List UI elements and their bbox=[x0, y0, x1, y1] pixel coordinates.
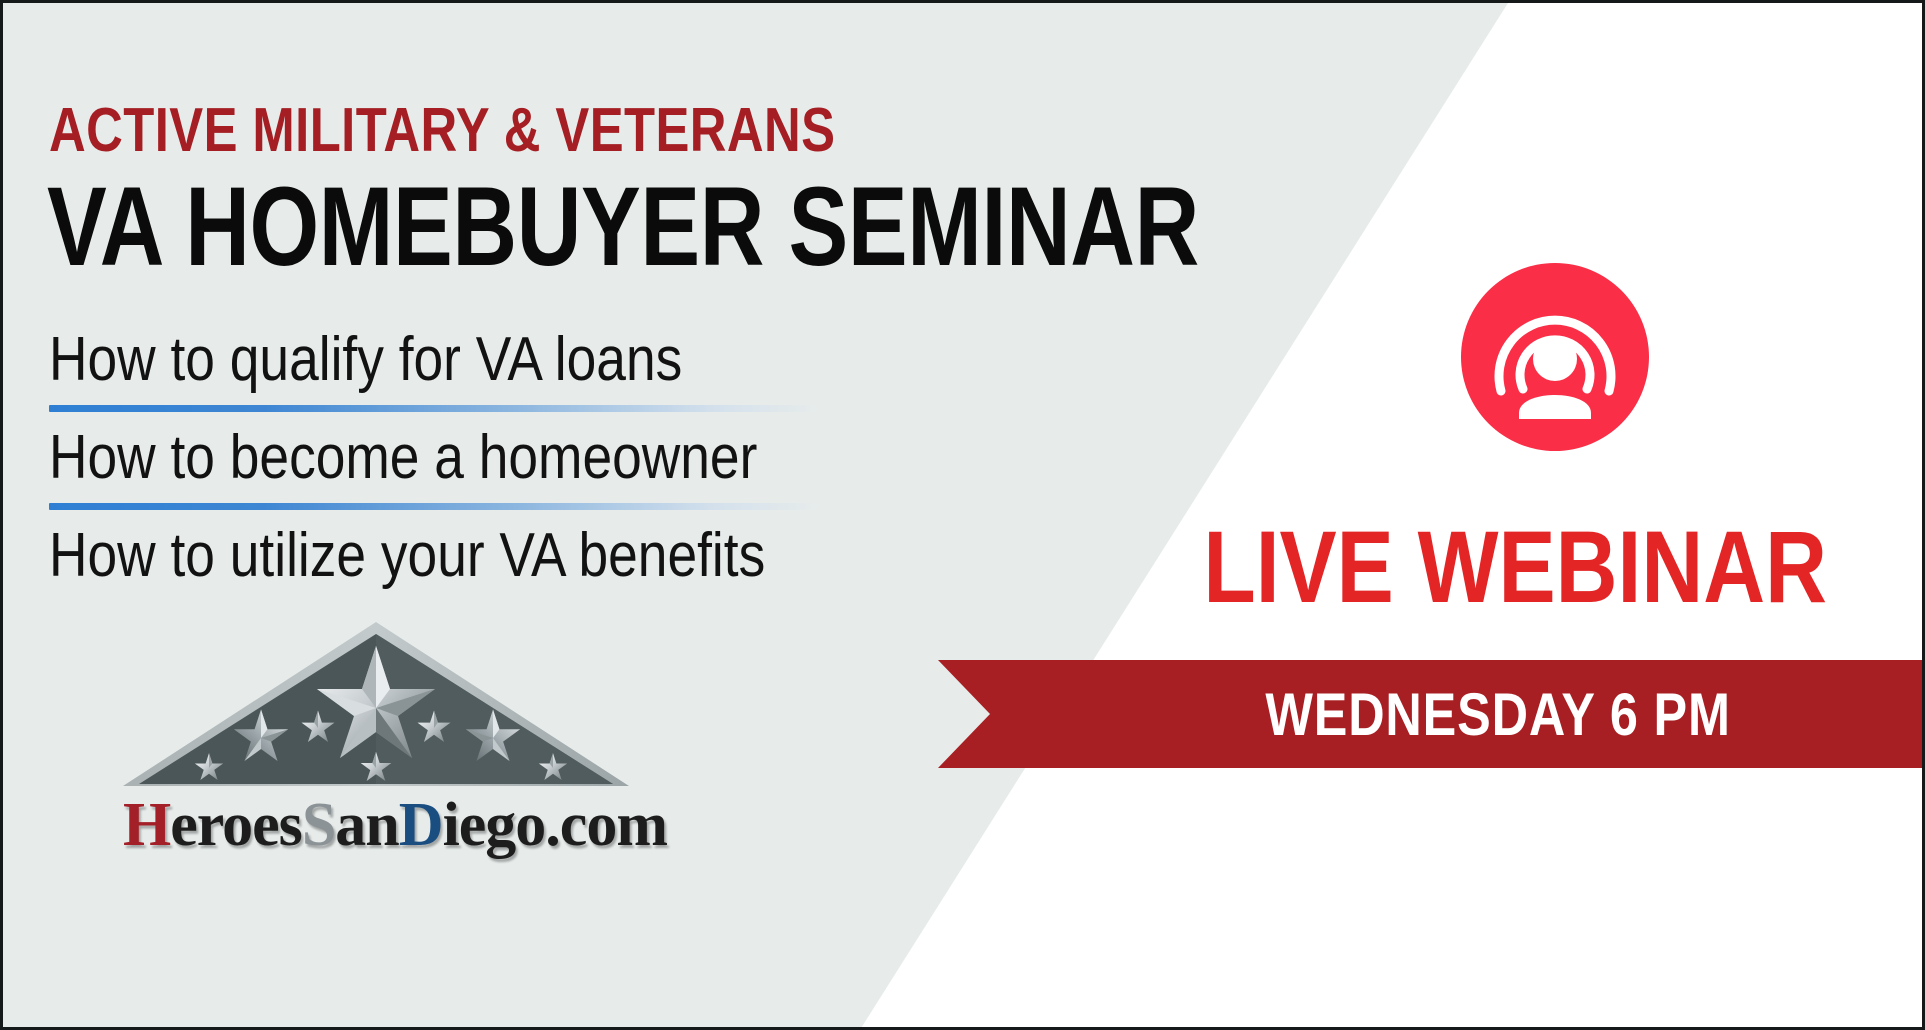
divider-rule bbox=[49, 405, 819, 412]
folded-flag-stars-icon bbox=[121, 616, 631, 791]
list-item: How to become a homeowner bbox=[49, 419, 819, 510]
page-title: VA HOMEBUYER SEMINAR bbox=[47, 171, 1199, 283]
left-content-column: ACTIVE MILITARY & VETERANS VA HOMEBUYER … bbox=[3, 3, 1103, 1030]
list-item-label: How to utilize your VA benefits bbox=[49, 517, 711, 595]
logo-part-an: an bbox=[335, 791, 398, 859]
benefits-list: How to qualify for VA loans How to becom… bbox=[49, 321, 819, 595]
list-item: How to qualify for VA loans bbox=[49, 321, 819, 412]
list-item-label: How to become a homeowner bbox=[49, 419, 711, 497]
divider-rule bbox=[49, 503, 819, 510]
schedule-ribbon-label-wrap: WEDNESDAY 6 PM bbox=[938, 660, 1925, 768]
logo-part-h: H bbox=[123, 791, 170, 859]
logo-part-iego-com: iego.com bbox=[443, 791, 667, 859]
eyebrow-text: ACTIVE MILITARY & VETERANS bbox=[49, 99, 835, 163]
logo-wordmark: HeroesSanDiego.com bbox=[123, 794, 667, 856]
promo-title-text: LIVE WEBINAR bbox=[1204, 515, 1828, 619]
promo-title: LIVE WEBINAR bbox=[1103, 515, 1925, 619]
live-broadcast-person-icon bbox=[1461, 263, 1649, 451]
logo-part-d: D bbox=[399, 791, 443, 859]
heroes-san-diego-logo[interactable]: HeroesSanDiego.com bbox=[121, 616, 631, 816]
logo-part-s: S bbox=[302, 791, 335, 859]
status-badge: WEDNESDAY 6 PM bbox=[1265, 680, 1730, 749]
promo-column: LIVE WEBINAR WEDNESDAY 6 PM bbox=[1103, 3, 1925, 1030]
list-item-label: How to qualify for VA loans bbox=[49, 321, 711, 399]
va-homebuyer-seminar-banner: ACTIVE MILITARY & VETERANS VA HOMEBUYER … bbox=[0, 0, 1925, 1030]
list-item: How to utilize your VA benefits bbox=[49, 517, 819, 595]
logo-part-eroes: eroes bbox=[170, 791, 302, 859]
